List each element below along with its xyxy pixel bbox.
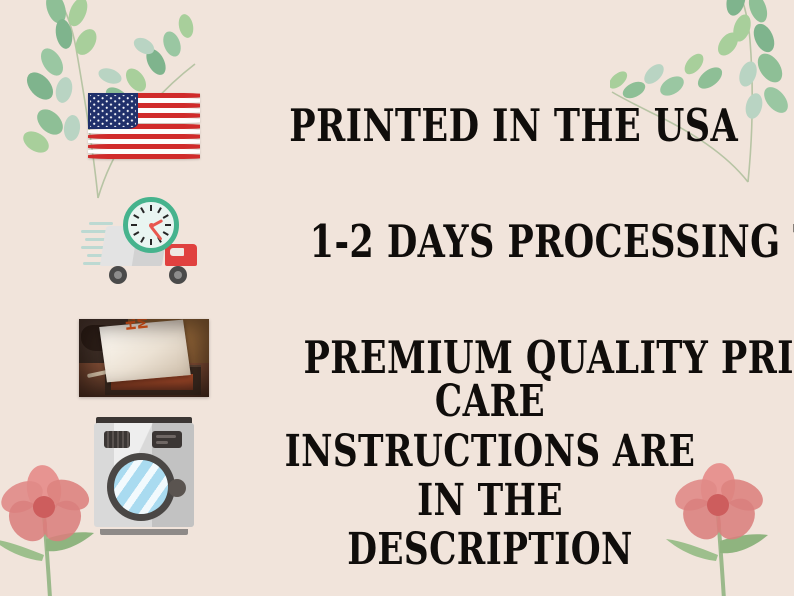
flag-stars: [90, 95, 136, 127]
feature-row-care-instructions: CARE INSTRUCTIONS ARE IN THE DESCRIPTION: [0, 414, 794, 538]
text-cell-care-instructions: CARE INSTRUCTIONS ARE IN THE DESCRIPTION: [214, 377, 794, 574]
washing-machine-icon: [92, 417, 196, 535]
feature-text-processing-time: 1-2 DAYS PROCESSING TIME: [310, 217, 794, 267]
feature-text-printed-in-usa: PRINTED IN THE USA: [289, 101, 738, 151]
washer-door-knob: [168, 479, 186, 497]
icon-cell-print-photo: HAND MADE: [74, 319, 214, 397]
washer-door: [114, 460, 168, 514]
feature-text-premium-quality: PREMIUM QUALITY PRINT: [303, 333, 794, 383]
us-flag-icon: [88, 93, 200, 159]
screen-printing-photo: HAND MADE: [79, 319, 209, 397]
care-line-1: CARE INSTRUCTIONS ARE: [284, 377, 696, 476]
washer-dial: [104, 431, 130, 448]
washer-display-panel: [152, 431, 182, 448]
feature-text-care-instructions: CARE INSTRUCTIONS ARE IN THE DESCRIPTION: [284, 377, 696, 574]
text-cell-processing-time: 1-2 DAYS PROCESSING TIME: [214, 217, 794, 267]
poster-canvas: PRINTED IN THE USA: [0, 0, 794, 596]
text-cell-printed-in-usa: PRINTED IN THE USA: [214, 101, 794, 151]
clock-icon: [123, 197, 179, 253]
feature-row-printed-in-usa: PRINTED IN THE USA: [0, 74, 794, 178]
fast-delivery-truck-clock-icon: [81, 196, 207, 288]
feature-list: PRINTED IN THE USA: [0, 0, 794, 596]
icon-cell-delivery: [74, 196, 214, 288]
icon-cell-washing-machine: [74, 417, 214, 535]
care-line-2: IN THE DESCRIPTION: [284, 476, 696, 575]
icon-cell-us-flag: [74, 93, 214, 159]
feature-row-processing-time: 1-2 DAYS PROCESSING TIME: [0, 190, 794, 294]
